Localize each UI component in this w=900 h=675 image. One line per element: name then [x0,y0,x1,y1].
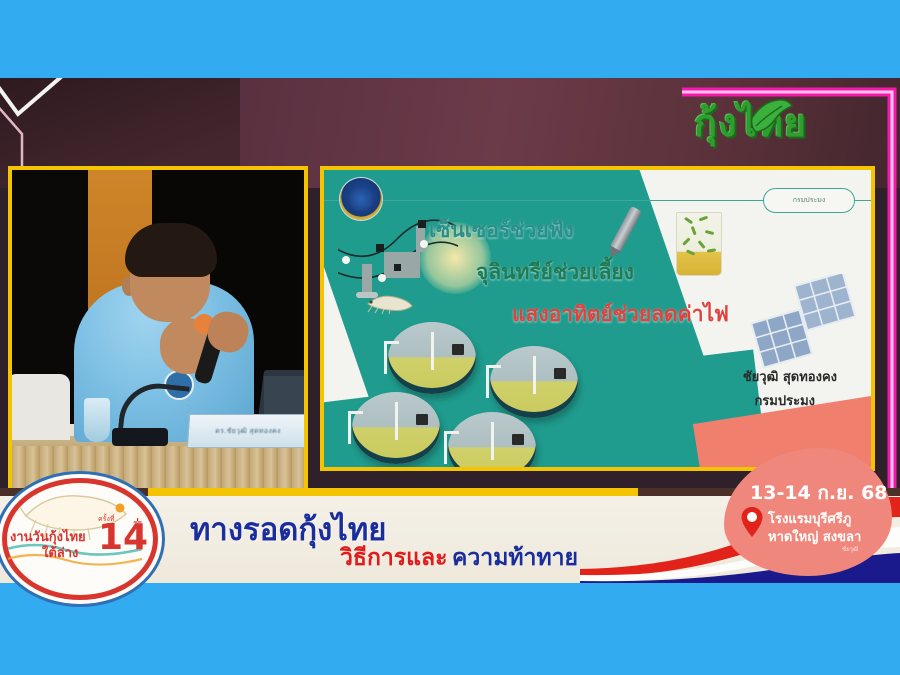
event-watermark: ชัยวุฒิ [842,544,858,554]
solar-panel-icon [747,274,867,370]
pond-aerator-arm [348,411,363,444]
water-glass-icon [84,398,110,442]
event-subtitle-blue: ความท้าทาย [452,540,578,576]
microbe-tube-icon [676,212,722,276]
pond-sensor-box [416,414,428,425]
speaker-hair [125,223,217,277]
slide-presenter-name: ชัยวุฒิ สุดทองคง [743,366,837,387]
shrimp-pond-icon [388,322,476,394]
badge-plus-icon: ✛ [133,516,142,529]
shrimp-leaf-icon [748,92,794,138]
pond-pole [431,332,434,369]
pond-pole [533,356,536,393]
chair-back [8,374,70,440]
shrimp-pond-icon [352,392,440,464]
pond-sensor-box [512,434,524,445]
mic-base [112,428,168,446]
slide-line-2: จุลินทรีย์ช่วยเลี้ยง [476,256,634,289]
pond-aerator-arm [444,431,459,464]
pond-aerator-arm [486,365,501,398]
location-pin-icon [740,506,764,538]
slide-presenter-org: กรมประมง [754,390,815,411]
event-info: 13-14 ก.ย. 68 โรงแรมบุรีศรีภู หาดใหญ่ สง… [724,448,894,578]
slide-corner-badge: กรมประมง [763,188,855,213]
slide-line-3: แสงอาทิตย์ช่วยลดค่าไฟ [512,298,729,331]
slide-line-1: เซ็นเซอร์ช่วยฟัง [429,214,574,247]
slide-corner-badge-text: กรมประมง [793,195,826,206]
top-logo: กุ้งไทย [676,90,886,148]
pond-pole [395,402,398,439]
pond-sensor-box [452,344,464,355]
speaker-nameplate: ดร.ชัยวุฒิ สุดทองคง [187,414,308,448]
pond-sensor-box [554,368,566,379]
shrimp-pond-icon [490,346,578,418]
event-date: 13-14 ก.ย. 68 [750,478,888,508]
badge-line-2: ใต้ล่าง [42,542,78,563]
event-subtitle-red: วิธีการและ [340,540,447,576]
screenshot-root: ดร.ชัยวุฒิ สุดทองคง กรมประมง [0,0,900,675]
pond-pole [491,422,494,459]
speaker-camera-pane: ดร.ชัยวุฒิ สุดทองคง [8,166,308,496]
seal-inner [349,187,373,211]
title-bar-yellow-stripe [148,488,638,496]
shrimp-icon [364,290,416,314]
presentation-slide: กรมประมง [320,166,875,471]
pond-aerator-arm [384,341,399,374]
speaker-nameplate-text: ดร.ชัยวุฒิ สุดทองคง [215,426,281,437]
event-badge: งานวันกุ้งไทย ใต้ล่าง ครั้งที่ 14 ✛ [2,478,148,590]
